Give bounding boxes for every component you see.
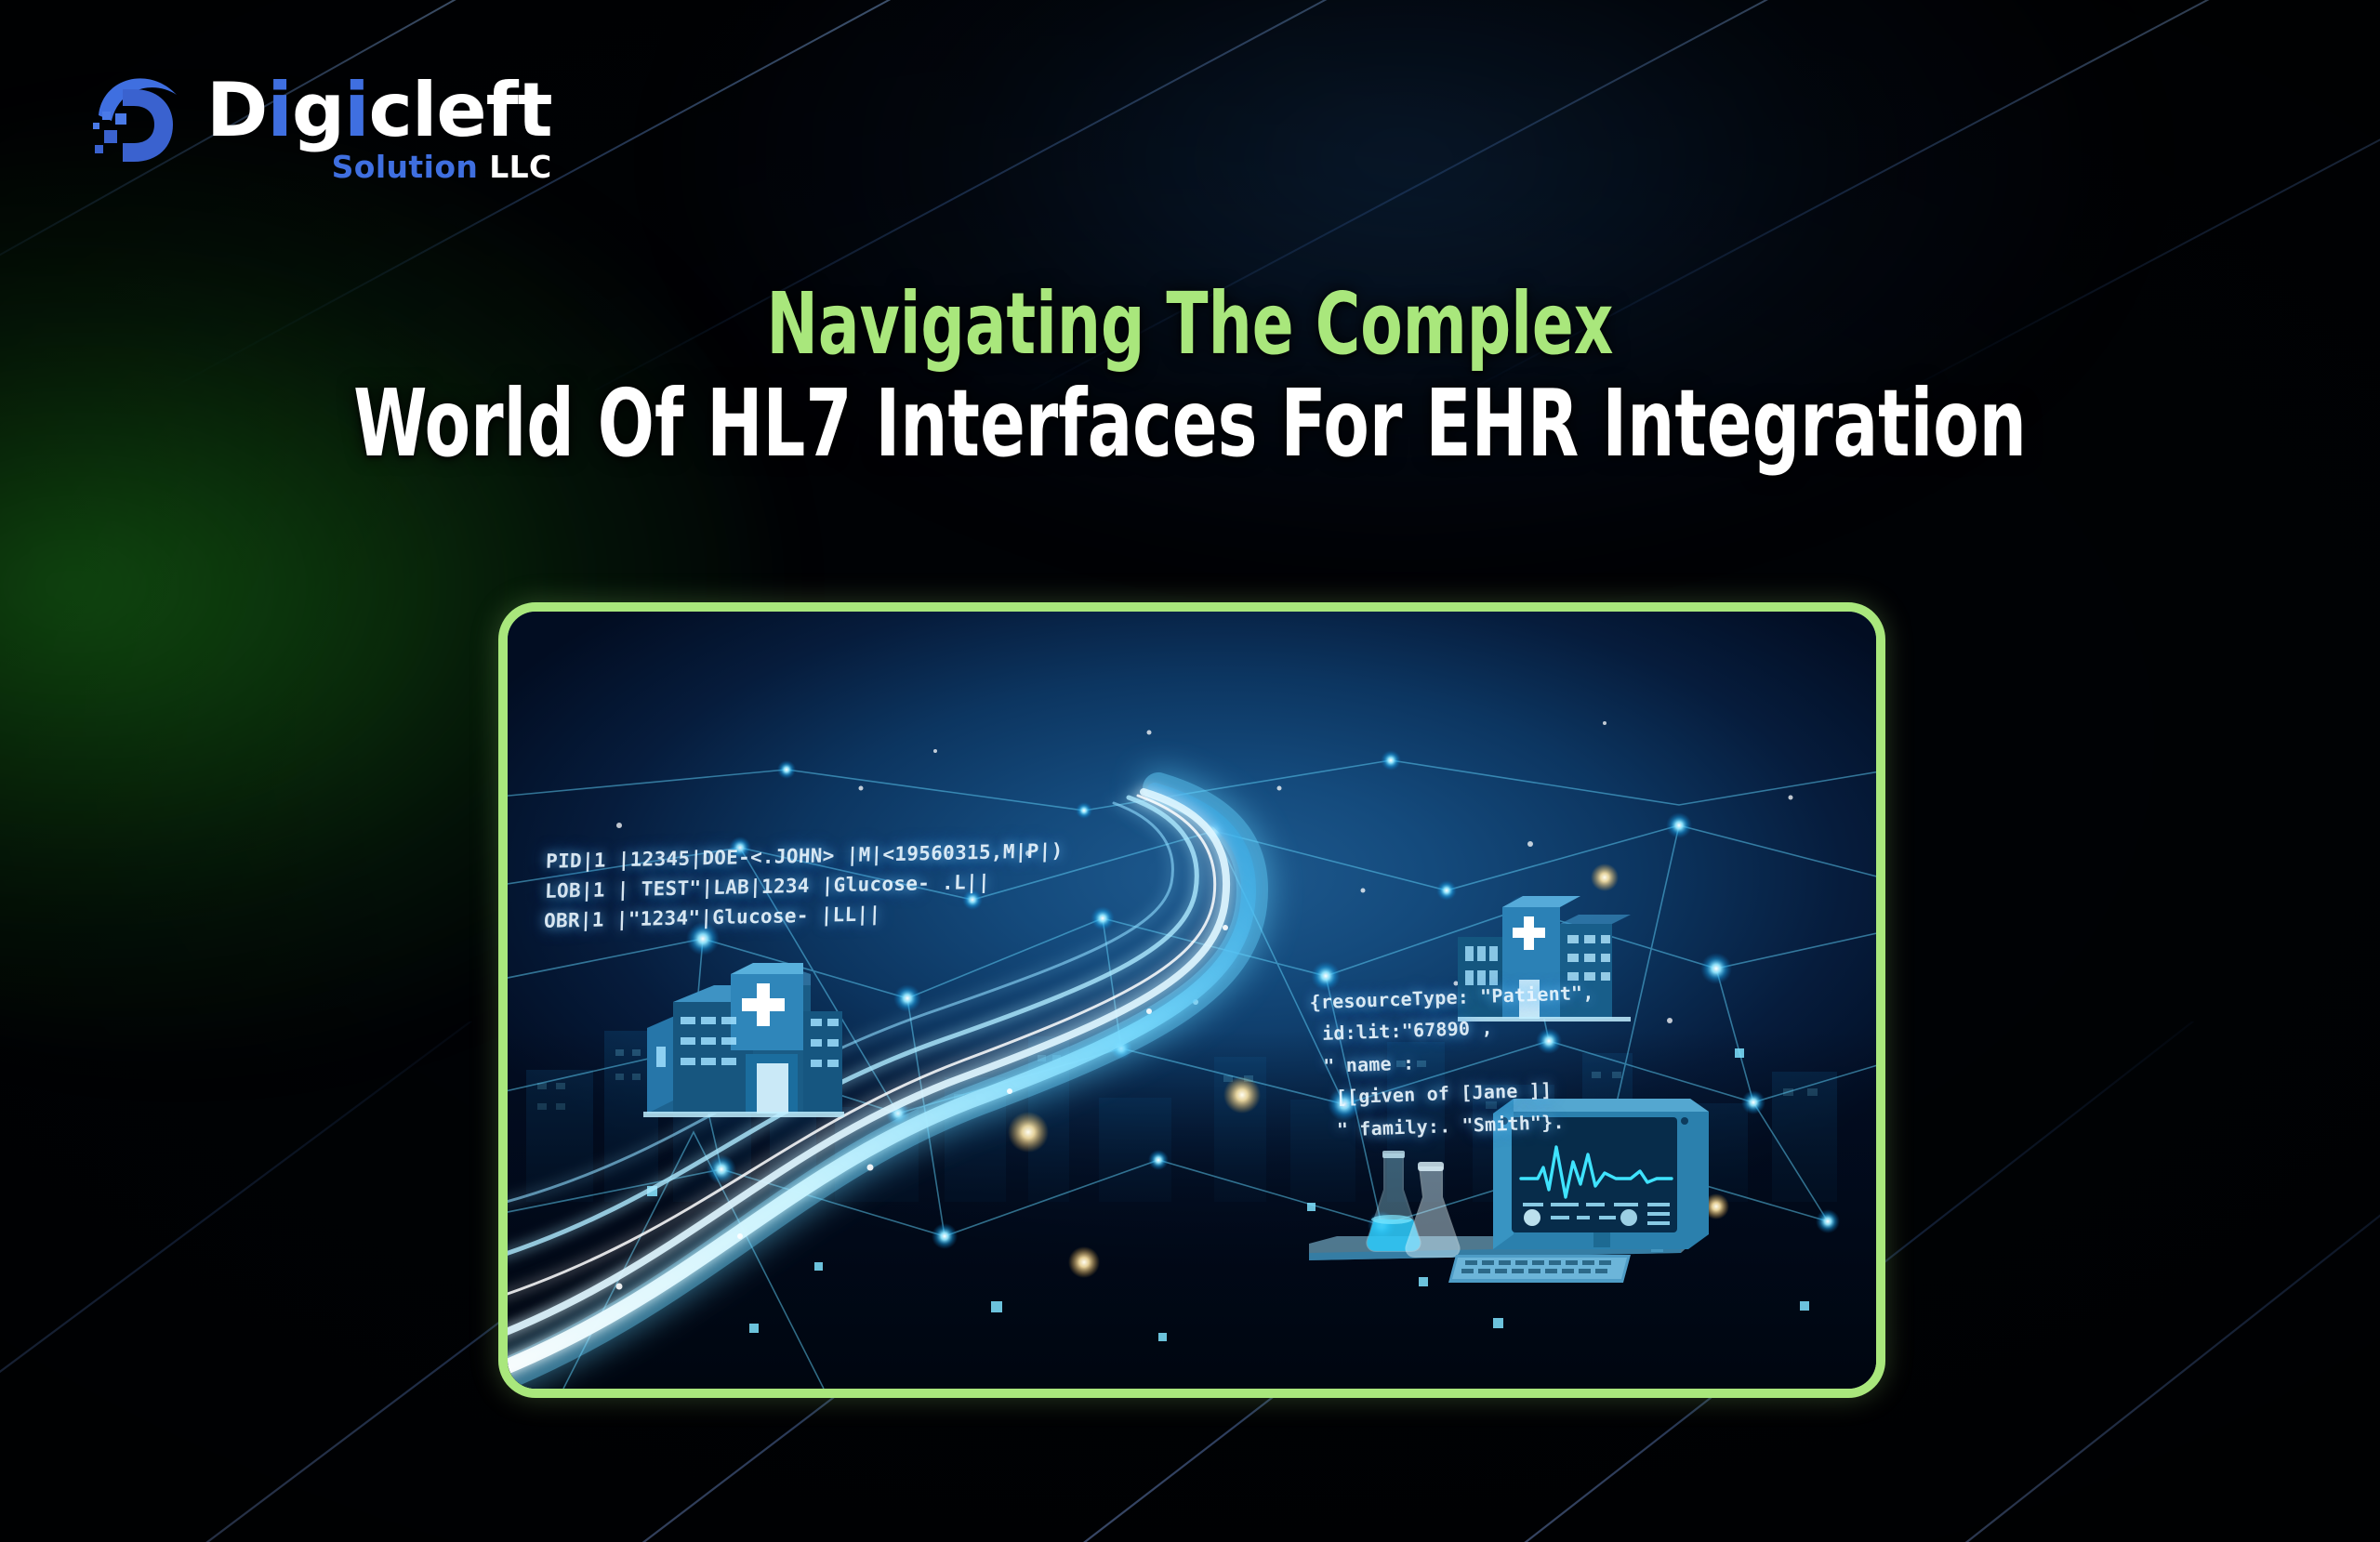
hero-image-inner: PID|1 |12345|DOE-<.JOHN> |M|<19560315,M|… [508,612,1876,1389]
wordmark-part-1: i [267,67,291,153]
wordmark-part-2: g [292,67,344,153]
tagline-primary: Solution [332,149,479,185]
page-headline: Navigating The Complex World Of HL7 Inte… [0,279,2380,473]
logo-tagline: Solution LLC [206,149,552,185]
logo-wordmark: Digicleft [206,74,552,147]
flask-icon [1349,1149,1470,1260]
keyboard-icon [1448,1251,1631,1288]
hospital-cross-icon [621,957,853,1134]
brand-logo[interactable]: Digicleft Solution LLC [80,58,552,185]
tagline-secondary: LLC [489,149,551,185]
logo-text-block: Digicleft Solution LLC [206,58,552,185]
headline-line-1: Navigating The Complex [238,279,2142,370]
hl7-line-2: OBR|1 |"1234"|Glucose- |LL|| [544,903,881,932]
hl7-message-overlay: PID|1 |12345|DOE-<.JOHN> |M|<19560315,M|… [544,837,1064,936]
fhir-line-1: id:lit:"67890 , [1310,1017,1493,1046]
headline-line-2: World Of HL7 Interfaces For EHR Integrat… [238,374,2142,473]
fhir-line-0: {resourceType: "Patient", [1309,982,1594,1014]
wordmark-part-4: cleft [369,67,552,153]
fhir-line-2: " name : [1312,1051,1415,1077]
fhir-json-overlay: {resourceType: "Patient", id:lit:"67890 … [1309,977,1599,1147]
wordmark-part-0: D [206,67,267,153]
hl7-line-1: LOB|1 | TEST"|LAB|1234 |Glucose- .L|| [545,871,991,903]
digicleft-d-swoosh-icon [80,58,190,169]
wordmark-part-3: i [344,67,368,153]
fhir-line-3: [[given of [Jane ]] [1313,1079,1553,1110]
hero-image-card[interactable]: PID|1 |12345|DOE-<.JOHN> |M|<19560315,M|… [498,602,1885,1398]
fhir-line-4: " family:. "Smith"}. [1314,1110,1565,1140]
